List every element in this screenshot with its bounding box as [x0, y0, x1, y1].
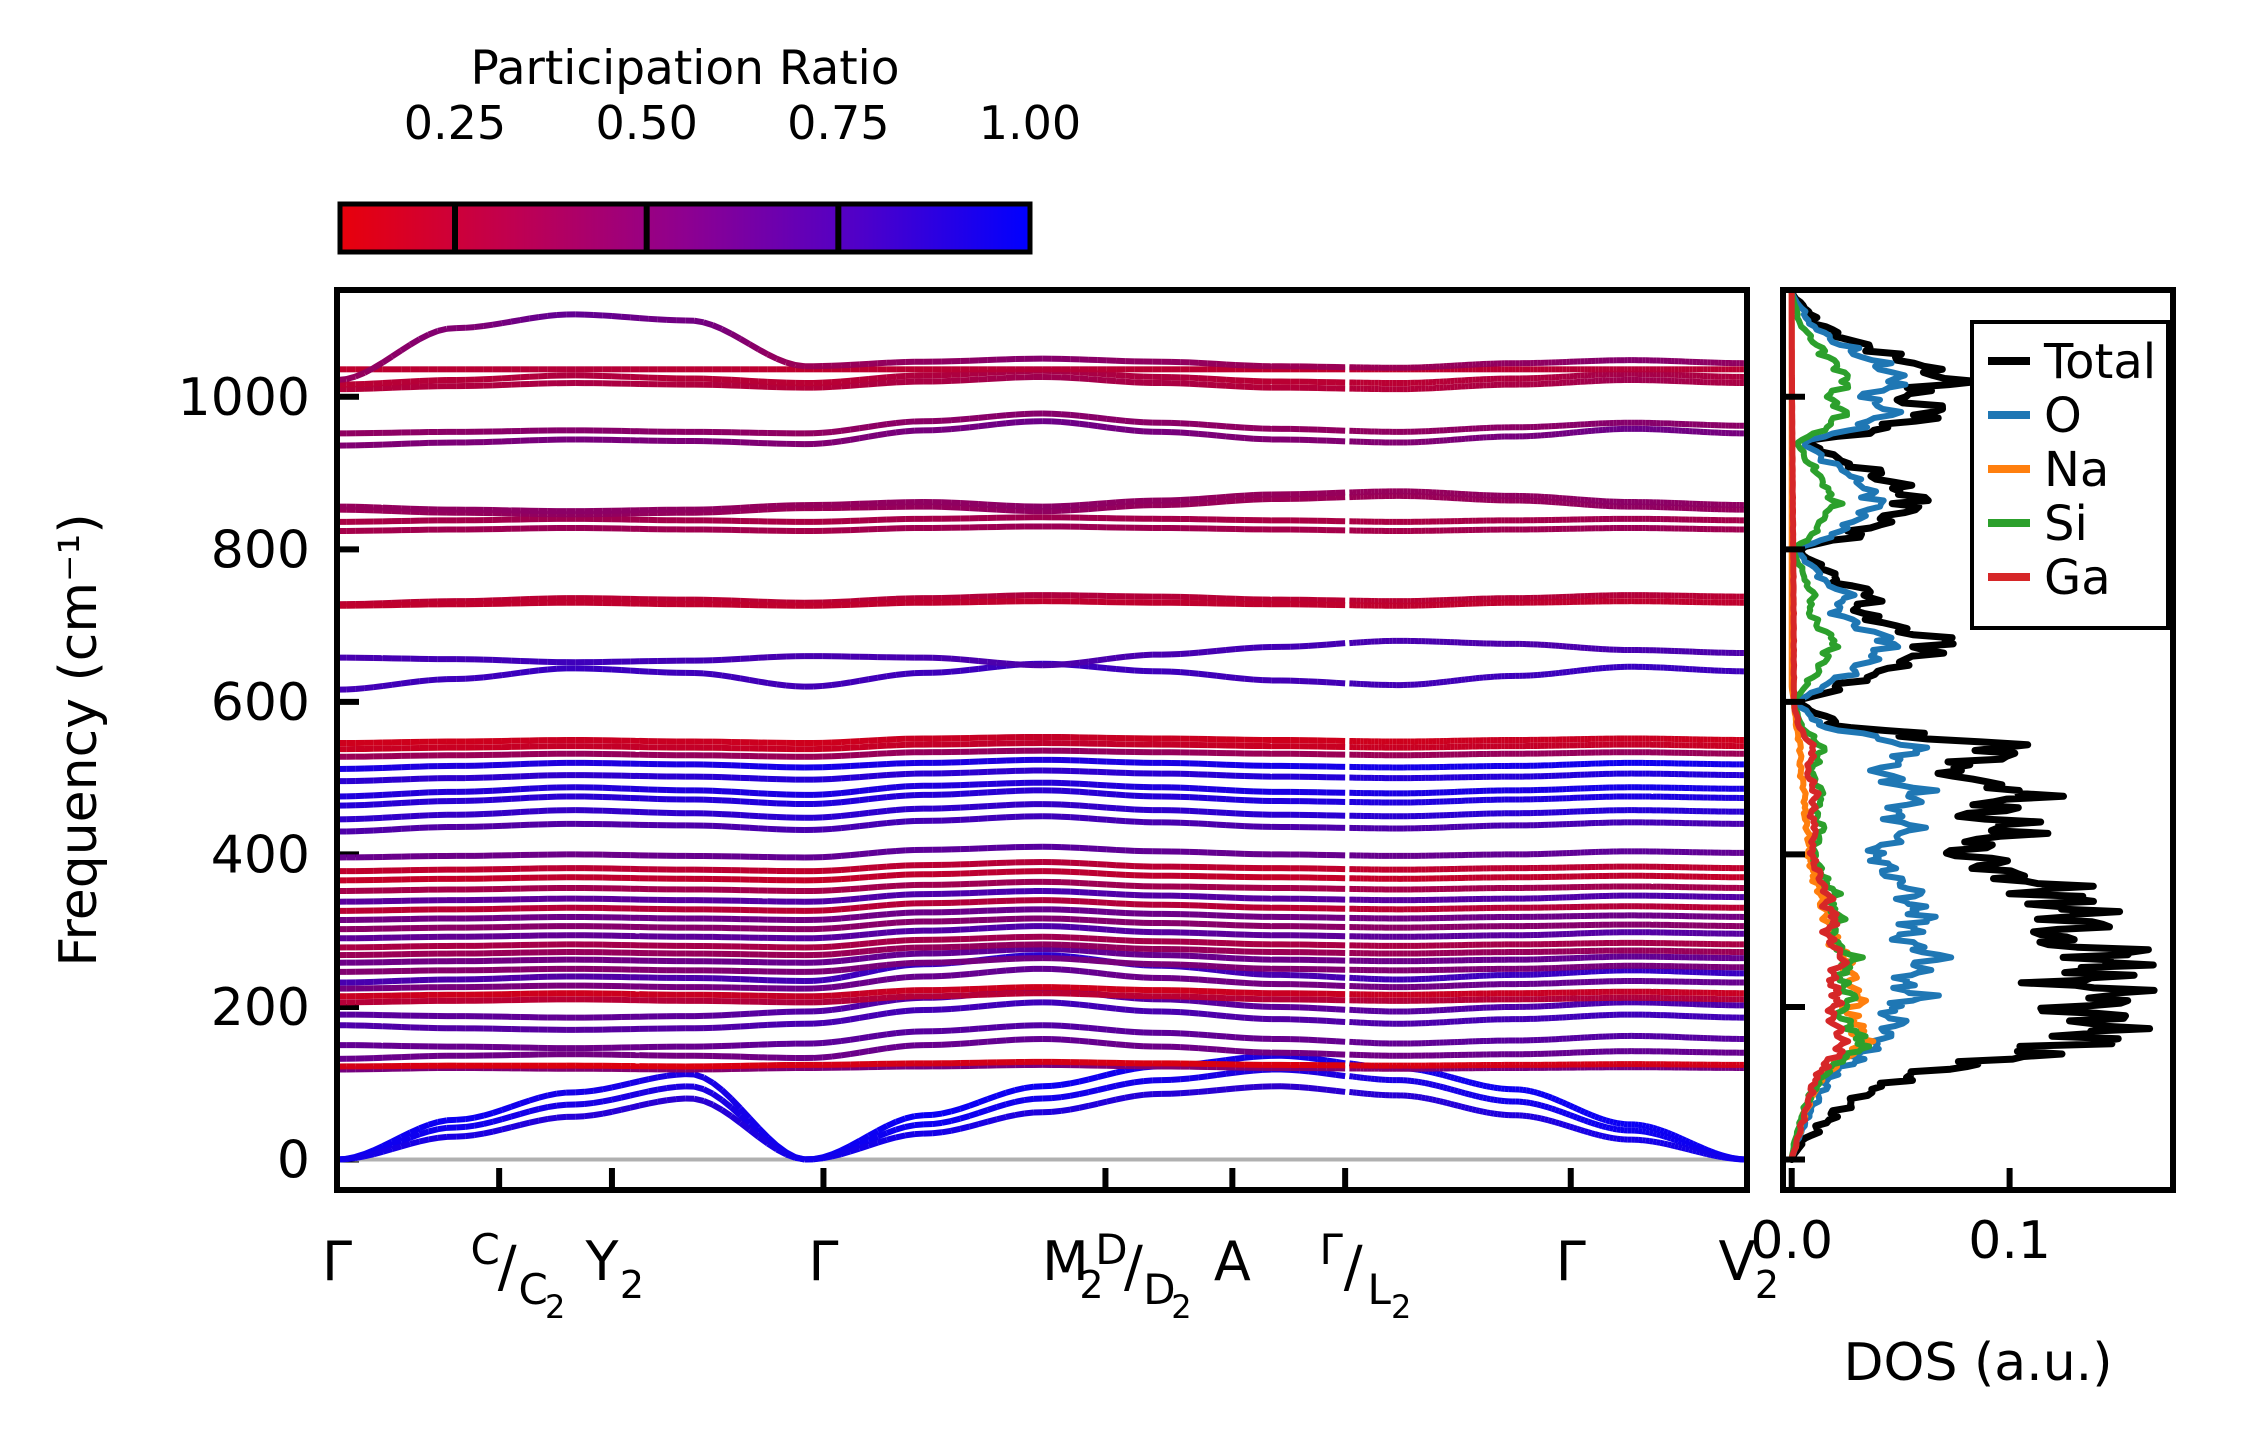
band-curve-b02	[557, 1105, 566, 1106]
band-curve-b11	[887, 991, 896, 992]
band-curve-b06	[969, 1042, 978, 1043]
band-curve-b02	[1425, 1083, 1429, 1084]
band-curve-b01	[979, 1099, 988, 1102]
band-curve-b01	[584, 1091, 593, 1092]
band-curve-b16	[841, 953, 850, 954]
band-curve-b20	[869, 915, 878, 916]
band-curve-b03	[1006, 1115, 1015, 1117]
band-curve-b02	[1440, 1086, 1444, 1087]
band-curve-b09	[1180, 1000, 1189, 1001]
band-curve-b03	[1290, 1087, 1299, 1088]
band-curve-b08	[887, 1012, 896, 1013]
band-curve-b01	[878, 1126, 887, 1131]
band-curve-b11	[869, 992, 878, 993]
band-curve-b08	[988, 1005, 997, 1006]
band-curve-b03	[1472, 1109, 1476, 1110]
band-curve-b15	[887, 955, 896, 956]
band-curve-b03	[392, 1146, 401, 1149]
band-curve-b12	[988, 971, 997, 972]
band-curve-b01	[1472, 1083, 1476, 1084]
band-curve-b08	[1061, 1003, 1070, 1004]
band-curve-b01	[1052, 1085, 1061, 1086]
band-curve-b01	[429, 1122, 438, 1125]
band-curve-b13	[1244, 973, 1253, 974]
band-curve-b03	[520, 1123, 529, 1125]
band-curve-b01	[905, 1116, 914, 1118]
band-curve-b02	[704, 1089, 713, 1094]
band-curve-b09	[878, 1001, 887, 1002]
band-curve-b12	[823, 987, 832, 988]
band-curve-b08	[1208, 1014, 1217, 1015]
band-curve-b03	[1436, 1100, 1440, 1101]
band-curve-b08	[1318, 1020, 1327, 1021]
band-curve-b03	[1015, 1114, 1024, 1116]
band-curve-b08	[832, 1021, 841, 1022]
band-curve-b03	[1418, 1097, 1422, 1098]
band-curve-b01	[676, 1074, 685, 1075]
band-curve-b01	[419, 1125, 428, 1129]
band-curve-b03	[1433, 1100, 1437, 1101]
band-curve-b20	[887, 913, 896, 914]
band-curve-b02	[1089, 1090, 1098, 1092]
band-curve-b01	[1563, 1102, 1567, 1104]
band-curve-b02	[1171, 1079, 1180, 1080]
band-curve-b01	[1552, 1098, 1556, 1099]
band-curve-b03	[1534, 1117, 1538, 1118]
band-curve-b01	[1566, 1104, 1570, 1106]
band-curve-b07	[1226, 1037, 1235, 1038]
band-curve-b01	[1573, 1107, 1577, 1109]
band-curve-b14	[1116, 962, 1125, 963]
band-curve-b03	[1584, 1131, 1588, 1132]
band-curve-b12	[942, 975, 951, 976]
band-curve-b03	[1678, 1147, 1682, 1148]
band-curve-b03	[777, 1150, 786, 1155]
band-curve-b01	[1024, 1087, 1033, 1088]
band-curve-b17	[887, 941, 896, 942]
band-curve-b02	[1327, 1074, 1336, 1075]
band-curve-b03	[988, 1119, 997, 1121]
band-curve-b02	[419, 1131, 428, 1134]
band-curve-b22	[887, 895, 896, 896]
band-curve-b01	[887, 1122, 896, 1126]
band-curve-b21	[832, 909, 841, 910]
band-curve-b14	[1079, 960, 1088, 961]
band-curve-b02	[1678, 1141, 1682, 1142]
band-curve-b03	[1199, 1091, 1208, 1092]
band-curve-b18	[832, 937, 841, 938]
band-curve-b02	[1469, 1094, 1473, 1095]
band-curve-b12	[1226, 982, 1235, 983]
band-curve-b02	[630, 1093, 639, 1095]
band-curve-b01	[1116, 1071, 1125, 1073]
band-curve-b01	[539, 1095, 548, 1097]
band-curve-b03	[1107, 1100, 1116, 1102]
band-curve-b06	[1107, 1043, 1116, 1044]
phonon-band-dos-figure: Participation Ratio 0.250.500.751.00 Fre…	[0, 0, 2259, 1455]
band-curve-b03	[639, 1104, 648, 1106]
band-curve-b02	[1566, 1114, 1570, 1115]
band-curve-b08	[1327, 1021, 1336, 1022]
band-curve-b18	[841, 936, 850, 937]
band-curve-b13	[832, 978, 841, 979]
band-curve-b18	[979, 928, 988, 929]
band-curve-b02	[1079, 1092, 1088, 1094]
band-curve-b20	[896, 913, 905, 914]
band-curve-b23	[859, 888, 868, 889]
band-curve-b07	[1208, 1035, 1217, 1036]
band-curve-b01	[603, 1087, 612, 1089]
band-curve-b16	[896, 948, 905, 949]
band-curve-b03	[1116, 1098, 1125, 1100]
band-curve-b18	[1089, 928, 1098, 929]
band-curve-b15	[850, 959, 859, 960]
band-curve-b03	[667, 1099, 676, 1100]
band-curve-b08	[859, 1016, 868, 1018]
band-curve-b01	[1318, 1059, 1327, 1060]
band-curve-b14	[887, 964, 896, 965]
band-curve-b14	[1217, 966, 1226, 967]
band-curve-b03	[1089, 1104, 1098, 1106]
band-curve-b03	[786, 1154, 795, 1157]
band-curve-b03	[704, 1101, 713, 1105]
band-curve-b03	[795, 1158, 804, 1160]
band-curve-b20	[841, 918, 850, 919]
band-curve-b02	[979, 1110, 988, 1113]
band-curve-b02	[548, 1106, 557, 1107]
band-curve-b01	[1494, 1088, 1498, 1089]
band-curve-b10	[859, 999, 868, 1000]
band-curve-b01	[1487, 1086, 1491, 1087]
band-curve-b12	[841, 985, 850, 986]
band-curve-b06	[1235, 1051, 1244, 1052]
band-curve-b02	[1534, 1104, 1538, 1105]
band-curve-b13	[1254, 974, 1263, 975]
band-curve-b12	[1134, 977, 1143, 978]
band-curve-b06	[859, 1051, 868, 1053]
band-curve-b21	[896, 904, 905, 905]
band-curve-b02	[438, 1128, 447, 1129]
band-curve-b23	[1107, 885, 1116, 886]
band-curve-b01	[1541, 1094, 1545, 1095]
band-curve-b06	[896, 1046, 905, 1047]
band-curve-b15	[896, 954, 905, 955]
band-curve-b03	[1696, 1151, 1700, 1152]
band-curve-b02	[594, 1101, 603, 1102]
band-curve-b15	[859, 958, 868, 959]
band-curve-b21	[850, 908, 859, 909]
band-curve-b14	[832, 970, 841, 971]
band-curve-b03	[997, 1117, 1006, 1119]
band-curve-b03	[1660, 1143, 1664, 1144]
band-curve-b03	[465, 1135, 474, 1136]
band-curve-b01	[1577, 1109, 1581, 1111]
band-curve-b02	[1642, 1131, 1646, 1132]
band-curve-b02	[603, 1100, 612, 1102]
figure-canvas: Participation Ratio 0.250.500.751.00 Fre…	[0, 0, 2259, 1455]
band-curve-b14	[850, 968, 859, 969]
band-curve-b08	[1134, 1010, 1143, 1011]
band-curve-b01	[960, 1106, 969, 1109]
band-curve-b01	[914, 1115, 923, 1116]
band-curve-b07	[997, 1027, 1006, 1028]
band-curve-b14	[859, 967, 868, 968]
band-curve-b03	[429, 1138, 438, 1140]
band-curve-b06	[951, 1044, 960, 1045]
band-curve-b06	[1070, 1040, 1079, 1041]
band-curve-b14	[979, 960, 988, 961]
band-curve-b03	[1226, 1088, 1235, 1089]
band-curve-b02	[584, 1103, 593, 1104]
band-curve-b17	[832, 946, 841, 947]
band-curve-b22	[896, 895, 905, 896]
band-curve-b12	[878, 979, 887, 980]
band-curve-b03	[1602, 1136, 1606, 1137]
band-curve-b02	[1098, 1088, 1107, 1090]
band-curve-b02	[1308, 1071, 1317, 1072]
band-curve-b03	[374, 1152, 383, 1154]
band-curve-b03	[1480, 1111, 1484, 1112]
band-curve-b01	[1290, 1056, 1299, 1057]
band-curve-b02	[1125, 1082, 1134, 1084]
band-curve-b02	[1548, 1107, 1552, 1108]
band-curve-b02	[1418, 1082, 1422, 1083]
band-curve-b18	[1125, 931, 1134, 932]
band-curve-b01	[621, 1083, 630, 1085]
band-curve-b02	[658, 1088, 667, 1090]
band-curve-b16	[869, 950, 878, 951]
band-curve-b03	[814, 1158, 823, 1159]
band-curve-b03	[896, 1135, 905, 1137]
band-curve-b14	[1107, 962, 1116, 963]
band-curve-b03	[1440, 1101, 1444, 1102]
band-curve-b02	[933, 1123, 942, 1124]
band-curve-b01	[1429, 1072, 1433, 1073]
band-curve-b02	[1545, 1106, 1549, 1107]
band-curve-b07	[1089, 1028, 1098, 1029]
band-curve-b21	[841, 909, 850, 910]
band-curve-b01	[1461, 1080, 1465, 1081]
band-curve-b18	[896, 931, 905, 932]
band-curve-b19	[850, 926, 859, 927]
band-curve-b06	[988, 1041, 997, 1042]
band-curve-b02	[1693, 1146, 1697, 1147]
band-curve-b08	[1180, 1012, 1189, 1013]
band-curve-b21	[1089, 902, 1098, 903]
band-curve-b01	[474, 1116, 483, 1118]
band-curve-b10	[841, 1001, 850, 1002]
band-curve-b18	[969, 929, 978, 930]
band-curve-b14	[841, 969, 850, 970]
band-curve-b19	[887, 923, 896, 924]
band-curve-b08	[740, 1026, 749, 1027]
band-curve-b18	[878, 933, 887, 934]
band-curve-b02	[621, 1096, 630, 1098]
band-curve-b03	[1682, 1148, 1686, 1149]
band-curve-b15	[969, 952, 978, 953]
band-curve-b12	[1098, 973, 1107, 974]
band-curve-b01	[1436, 1073, 1440, 1074]
band-curve-b02	[969, 1113, 978, 1116]
band-curve-b06	[1006, 1040, 1015, 1041]
band-curve-b11	[850, 994, 859, 995]
band-curve-b01	[969, 1102, 978, 1105]
band-curve-b12	[896, 977, 905, 978]
band-curve-b03	[859, 1146, 868, 1149]
band-curve-b09	[1336, 1009, 1345, 1010]
band-curve-b02	[1217, 1074, 1226, 1075]
band-curve-b01	[1451, 1077, 1455, 1078]
band-curve-b17	[823, 947, 832, 948]
band-curve-b03	[878, 1140, 887, 1143]
band-curve-b02	[1472, 1095, 1476, 1096]
band-curve-b09	[869, 1003, 878, 1005]
band-curve-b01	[1548, 1096, 1552, 1097]
band-curve-b01	[1534, 1092, 1538, 1093]
band-curve-b16	[1107, 947, 1116, 948]
band-curve-b06	[1061, 1040, 1070, 1041]
band-curve-b12	[1235, 982, 1244, 983]
band-curve-b09	[1189, 1001, 1198, 1002]
band-curve-b14	[988, 960, 997, 961]
band-curve-b02	[676, 1086, 685, 1087]
band-curve-b06	[1244, 1052, 1253, 1053]
band-curve-b15	[878, 956, 887, 957]
band-curve-b16	[859, 951, 868, 952]
band-curve-b07	[823, 1042, 832, 1043]
band-curve-b11	[832, 995, 841, 996]
band-curve-b02	[694, 1087, 703, 1090]
band-curve-b01	[1244, 1057, 1253, 1058]
band-curve-b16	[850, 952, 859, 953]
band-curve-b23	[887, 886, 896, 887]
band-curve-b06	[850, 1053, 859, 1054]
band-curve-b08	[1217, 1015, 1226, 1016]
band-curve-b03	[1537, 1118, 1541, 1119]
band-curve-b08	[1015, 1003, 1024, 1004]
band-curve-b08	[1006, 1003, 1015, 1004]
colorbar-gradient[interactable]	[340, 204, 1030, 252]
band-curve-b21	[887, 904, 896, 905]
colorbar-tick-label: 0.50	[595, 96, 697, 150]
band-curve-b08	[823, 1022, 832, 1023]
band-curve-b16	[1089, 946, 1098, 947]
band-curve-b03	[1573, 1128, 1577, 1129]
band-curve-b12	[905, 977, 914, 978]
band-curve-b02	[1588, 1122, 1592, 1123]
band-curve-b22	[1107, 894, 1116, 895]
band-curve-b03	[649, 1102, 658, 1104]
band-curve-b18	[1079, 928, 1088, 929]
band-curve-b16	[823, 954, 832, 955]
band-curve-b14	[969, 961, 978, 962]
band-curve-b03	[1308, 1088, 1317, 1089]
band-curve-b01	[1660, 1130, 1664, 1131]
band-curve-b16	[887, 949, 896, 950]
band-curve-b09	[731, 1014, 740, 1015]
band-curve-b15	[988, 950, 997, 951]
band-curve-b20	[878, 914, 887, 915]
band-curve-b02	[1584, 1120, 1588, 1121]
band-curve-b03	[1704, 1153, 1708, 1154]
band-curve-b08	[997, 1004, 1006, 1005]
band-curve-b03	[960, 1127, 969, 1129]
band-curve-b01	[658, 1076, 667, 1078]
band-curve-b10	[878, 998, 887, 999]
band-curve-b01	[502, 1107, 511, 1110]
band-curve-b13	[1217, 970, 1226, 971]
band-curve-b06	[1199, 1048, 1208, 1049]
band-curve-b02	[905, 1125, 914, 1127]
band-curve-b01	[1617, 1123, 1621, 1124]
band-curve-b12	[1089, 972, 1098, 973]
band-curve-b02	[896, 1127, 905, 1130]
band-curve-b09	[823, 1010, 832, 1011]
band-curve-b03	[969, 1124, 978, 1126]
band-curve-b03	[584, 1115, 593, 1116]
band-curve-b01	[1592, 1115, 1596, 1116]
band-curve-b08	[960, 1008, 969, 1009]
band-curve-b15	[1098, 952, 1107, 953]
band-curve-b02	[1559, 1111, 1563, 1112]
band-curve-b19	[878, 923, 887, 924]
band-curve-b03	[1098, 1102, 1107, 1104]
band-curve-b12	[951, 975, 960, 976]
band-curve-b02	[988, 1107, 997, 1110]
band-curve-b02	[529, 1109, 538, 1111]
band-curve-b07	[887, 1033, 896, 1034]
band-curve-b03	[1327, 1090, 1336, 1091]
band-curve-b07	[878, 1034, 887, 1035]
band-curve-b03	[979, 1122, 988, 1124]
band-curve-b08	[1089, 1006, 1098, 1007]
band-curve-b03	[1592, 1133, 1596, 1134]
band-curve-b12	[832, 986, 841, 987]
band-curve-b03	[850, 1149, 859, 1152]
band-curve-b14	[1070, 959, 1079, 960]
band-curve-b19	[896, 922, 905, 923]
band-curve-b13	[841, 976, 850, 978]
band-curve-b06	[814, 1057, 823, 1058]
band-curve-b15	[1116, 953, 1125, 954]
band-curve-b14	[823, 971, 832, 972]
band-curve-b03	[1244, 1087, 1253, 1088]
band-curve-b03	[1447, 1103, 1451, 1104]
band-curve-b01	[1588, 1114, 1592, 1115]
band-curve-b03	[914, 1134, 923, 1135]
band-curve-b02	[1592, 1123, 1596, 1124]
band-curve-b02	[1443, 1087, 1447, 1088]
band-curve-b02	[1581, 1119, 1585, 1120]
band-curve-b02	[1052, 1097, 1061, 1098]
band-curve-b03	[1700, 1152, 1704, 1153]
band-curve-b02	[1447, 1088, 1451, 1089]
band-curve-b06	[1079, 1041, 1088, 1042]
band-curve-b12	[960, 974, 969, 975]
band-curve-b03	[346, 1158, 355, 1159]
frequency-tick-label: 400	[211, 825, 310, 885]
band-curve-b01	[1610, 1121, 1614, 1122]
band-curve-b14	[1089, 960, 1098, 961]
band-curve-b20	[1107, 912, 1116, 913]
band-curve-b01	[1584, 1112, 1588, 1114]
band-curve-b18	[1116, 930, 1125, 931]
band-curve-b13	[869, 970, 878, 972]
band-curve-b07	[832, 1041, 841, 1042]
band-curve-b15	[1208, 957, 1217, 958]
band-curve-b02	[1414, 1081, 1418, 1082]
band-curve-b08	[905, 1010, 914, 1011]
